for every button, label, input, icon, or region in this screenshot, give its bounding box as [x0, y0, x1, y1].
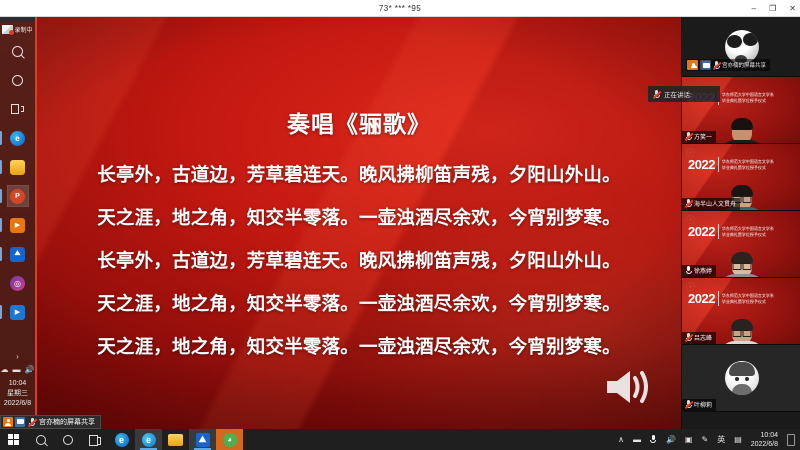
video-app-icon[interactable]: ▶ [8, 302, 28, 322]
file-explorer-icon[interactable] [8, 157, 28, 177]
tray-expand-chevron[interactable]: ∧ [618, 435, 624, 444]
taskbar-system-tray: ∧ ▬ 🔊 ▣ ✎ 英 ▤ 10:04 2022/6/8 [618, 431, 800, 449]
participant-name-4: 叶柳莉 [694, 400, 712, 409]
shared-clock-time: 10:04 [4, 379, 31, 389]
battery-icon[interactable]: ▬ [13, 365, 21, 374]
ceremony-line-1: 华东师范大学中国语言文学系 [722, 293, 774, 298]
minimize-button[interactable]: – [752, 5, 756, 13]
ceremony-banner-text: 2022 华东师范大学中国语言文学系 毕业典礼暨学位授予仪式 [688, 224, 774, 239]
screen-share-icon [15, 417, 25, 427]
participant-tile-2[interactable]: 2022 华东师范大学中国语言文学系 毕业典礼暨学位授予仪式 徐燕婷 [682, 211, 800, 278]
ceremony-line-2: 毕业典礼暨学位授予仪式 [722, 165, 774, 170]
participant-name-3: 吕志峰 [694, 333, 712, 342]
recording-indicator: 录制中 [2, 25, 32, 34]
mic-icon [685, 266, 692, 275]
shared-clock-date: 2022/6/8 [4, 399, 31, 409]
shared-tray-clock[interactable]: 10:04 星期三 2022/6/8 [4, 379, 31, 409]
volume-speaker-icon [601, 367, 653, 407]
participant-video-figure [732, 322, 752, 344]
media-player-icon[interactable]: ▶ [8, 215, 28, 235]
recording-dot-icon [686, 282, 695, 291]
powerpoint-icon[interactable]: P [8, 186, 28, 206]
task-view-icon[interactable] [81, 429, 108, 450]
microsoft-edge-icon[interactable]: e [108, 429, 135, 450]
task-view-icon[interactable] [8, 99, 28, 119]
active-speaker-label: 正在讲话: [664, 89, 692, 99]
window-titlebar: 73* *** *95 – ❐ ✕ [0, 0, 800, 17]
shared-clock-weekday: 星期三 [4, 389, 31, 399]
lyric-line-5: 天之涯，地之角，知交半零落。一壶浊酒尽余欢，今宵别梦寒。 [97, 333, 621, 359]
network-icon[interactable]: ▣ [685, 435, 693, 444]
volume-icon[interactable]: 🔊 [25, 365, 35, 374]
cortana-icon[interactable] [54, 429, 81, 450]
ceremony-year: 2022 [688, 157, 715, 172]
tray-expand-chevron[interactable]: › [16, 352, 19, 361]
shared-left-taskbar: 录制中 e [0, 17, 37, 429]
ime-language-indicator[interactable]: 英 [717, 434, 725, 445]
recording-icon [2, 25, 13, 34]
participant-name-2: 徐燕婷 [694, 266, 712, 275]
volume-icon[interactable]: 🔊 [666, 435, 676, 444]
mic-muted-icon[interactable] [27, 417, 37, 427]
mic-muted-icon [653, 90, 660, 99]
taskbar-clock-date: 2022/6/8 [751, 440, 778, 449]
screen-share-status-chips: 宫亦楠的屏幕共享 [686, 59, 770, 71]
active-speaker-tooltip: 正在讲话: [648, 86, 720, 102]
windows-taskbar: e e ⛰ ◕ ∧ ▬ 🔊 ▣ ✎ 英 ▤ 10:04 [0, 429, 800, 450]
shared-screen-area: 录制中 e [0, 17, 681, 429]
edge-legacy-icon[interactable]: e [135, 429, 162, 450]
participant-name-tag-2: 徐燕婷 [682, 265, 716, 278]
battery-icon[interactable]: ▬ [633, 435, 641, 444]
participant-tile-3[interactable]: 2022 华东师范大学中国语言文学系 毕业典礼暨学位授予仪式 吕志峰 [682, 278, 800, 345]
recording-dot-icon [686, 215, 695, 224]
share-pill-label: 宫亦楠的屏幕共享 [39, 417, 95, 427]
participant-video-figure [732, 255, 752, 277]
screen-share-thumbnail-tile[interactable]: 宫亦楠的屏幕共享 [682, 17, 800, 77]
mic-muted-icon [685, 400, 692, 409]
ime-panel-icon[interactable]: ▤ [734, 435, 742, 444]
screen-share-label: 宫亦楠的屏幕共享 [722, 61, 766, 69]
ceremony-year: 2022 [688, 291, 715, 306]
recording-label: 录制中 [14, 25, 32, 34]
taskbar-items: e e ⛰ ◕ [0, 429, 243, 450]
maximize-button[interactable]: ❐ [769, 5, 776, 13]
participant-video-figure [732, 121, 752, 143]
mic-muted-icon [685, 199, 692, 208]
ceremony-line-2: 毕业典礼暨学位授予仪式 [722, 232, 774, 237]
disc-app-icon[interactable]: ◎ [8, 273, 28, 293]
glasses-icon [732, 330, 751, 335]
participant-rail[interactable]: 宫亦楠的屏幕共享 2022 华东师范大学中国语言文学系 毕业典礼暨学位授予仪式 [681, 17, 800, 429]
participant-icon [3, 417, 13, 427]
windows-logo-icon [8, 434, 19, 445]
participant-name-0: 方笑一 [694, 132, 712, 141]
search-icon[interactable] [8, 41, 28, 61]
mic-muted-icon [685, 132, 692, 141]
ceremony-year: 2022 [688, 224, 715, 239]
lyric-line-2: 天之涯，地之角，知交半零落。一壶浊酒尽余欢，今宵别梦寒。 [97, 204, 621, 230]
glasses-icon [732, 263, 751, 268]
screen-share-icon [700, 60, 711, 70]
participant-name-tag-4: 叶柳莉 [682, 399, 716, 412]
participant-icon [687, 60, 698, 70]
participant-name-tag-1: 海半山人文贯舟 [682, 198, 740, 211]
mic-icon[interactable] [650, 435, 657, 444]
mountain-app-icon[interactable]: ⛰ [8, 244, 28, 264]
presentation-slide: 奏唱《骊歌》 长亭外，古道边，芳草碧连天。晚风拂柳笛声残，夕阳山外山。 天之涯，… [37, 17, 681, 429]
participant-name-1: 海半山人文贯舟 [694, 199, 736, 208]
anime-avatar [725, 361, 759, 395]
screen-root: 73* *** *95 – ❐ ✕ 录制中 [0, 0, 800, 450]
ceremony-line-1: 华东师范大学中国语言文学系 [722, 226, 774, 231]
ceremony-line-2: 毕业典礼暨学位授予仪式 [722, 98, 774, 103]
ceremony-banner-text: 2022 华东师范大学中国语言文学系 毕业典礼暨学位授予仪式 [688, 291, 774, 306]
ceremony-line-1: 华东师范大学中国语言文学系 [722, 92, 774, 97]
file-explorer-icon[interactable] [162, 429, 189, 450]
participant-name-tag-0: 方笑一 [682, 131, 716, 144]
participant-name-tag-3: 吕志峰 [682, 332, 716, 345]
search-icon[interactable] [27, 429, 54, 450]
participant-tile-4[interactable]: 叶柳莉 [682, 345, 800, 412]
lyric-line-1: 长亭外，古道边，芳草碧连天。晚风拂柳笛声残，夕阳山外山。 [97, 161, 621, 187]
ceremony-line-2: 毕业典礼暨学位授予仪式 [722, 299, 774, 304]
ceremony-line-1: 华东师范大学中国语言文学系 [722, 159, 774, 164]
wechat-icon[interactable]: ◕ [216, 429, 243, 450]
lyric-line-3: 长亭外，古道边，芳草碧连天。晚风拂柳笛声残，夕阳山外山。 [97, 247, 621, 273]
taskbar-clock-time: 10:04 [751, 431, 778, 440]
cortana-circle-icon[interactable] [8, 70, 28, 90]
mountain-app-icon[interactable]: ⛰ [189, 429, 216, 450]
microsoft-edge-icon[interactable]: e [8, 128, 28, 148]
window-controls: – ❐ ✕ [752, 0, 796, 17]
recording-dot-icon [686, 148, 695, 157]
ime-pen-icon[interactable]: ✎ [701, 435, 708, 444]
lyric-line-4: 天之涯，地之角，知交半零落。一壶浊酒尽余欢，今宵别梦寒。 [97, 290, 621, 316]
taskbar-clock[interactable]: 10:04 2022/6/8 [751, 431, 778, 449]
ceremony-banner-text: 2022 华东师范大学中国语言文学系 毕业典礼暨学位授予仪式 [688, 157, 774, 172]
shared-tray-icons: ☁ ▬ 🔊 [1, 365, 35, 374]
cloud-icon[interactable]: ☁ [1, 365, 9, 374]
start-button[interactable] [0, 429, 27, 450]
share-control-pill[interactable]: 宫亦楠的屏幕共享 [0, 415, 101, 429]
slide-title: 奏唱《骊歌》 [287, 105, 431, 139]
show-desktop-button[interactable] [787, 434, 795, 446]
close-button[interactable]: ✕ [789, 5, 796, 13]
mic-muted-icon [685, 333, 692, 342]
window-title: 73* *** *95 [379, 4, 421, 13]
participant-tile-1[interactable]: 2022 华东师范大学中国语言文学系 毕业典礼暨学位授予仪式 海半山人文贯舟 [682, 144, 800, 211]
shared-taskbar-icons: e P ▶ ⛰ ◎ ▶ [0, 41, 35, 322]
mic-muted-icon [713, 61, 720, 70]
